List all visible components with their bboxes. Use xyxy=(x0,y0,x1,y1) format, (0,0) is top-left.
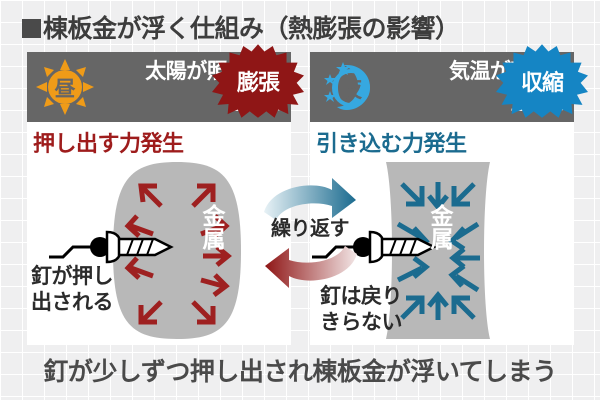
cycle-arrow-bottom xyxy=(265,246,357,288)
moon-icon: 夜 xyxy=(318,58,378,116)
nail-caption-left-line1: 釘が押し xyxy=(31,264,113,290)
nail-caption-left: 釘が押し 出される xyxy=(31,264,113,316)
force-text-daytime: 押し出す力発生 xyxy=(33,126,283,158)
metal-label-left: 金属 xyxy=(200,204,223,250)
metal-label-right: 金属 xyxy=(428,204,451,250)
infographic-root: 棟板金が浮く仕組み（熱膨張の影響） 昼 xyxy=(0,0,600,400)
diagram-expansion: 金属 釘が押し 出される xyxy=(27,156,291,345)
sun-icon: 昼 xyxy=(35,58,95,116)
cycle-label: 繰り返す xyxy=(258,212,362,241)
bullet-square-icon xyxy=(22,19,41,38)
nail-caption-left-line2: 出される xyxy=(31,290,113,316)
bottom-caption: 釘が少しずつ押し出され棟板金が浮いてしまう xyxy=(0,352,600,388)
nail-caption-right-line2: きらない xyxy=(320,310,402,336)
badge-expansion: 膨張 xyxy=(212,44,304,118)
sun-icon-label: 昼 xyxy=(55,78,76,101)
force-text-nighttime: 引き込む力発生 xyxy=(316,126,566,158)
badge-contraction: 収縮 xyxy=(496,44,588,118)
badge-contraction-label: 収縮 xyxy=(496,44,588,118)
badge-expansion-label: 膨張 xyxy=(212,44,304,118)
moon-icon-label: 夜 xyxy=(339,77,363,102)
page-title: 棟板金が浮く仕組み（熱膨張の影響） xyxy=(22,9,460,45)
page-title-text: 棟板金が浮く仕組み（熱膨張の影響） xyxy=(43,15,460,43)
